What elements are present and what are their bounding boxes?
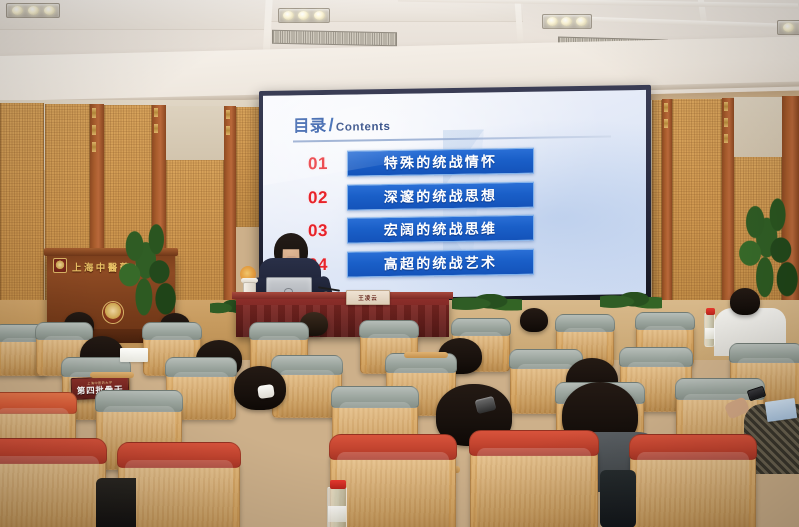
contents-item-label: 特殊的统战情怀	[384, 151, 497, 173]
auditorium-seat[interactable]	[118, 454, 240, 527]
auditorium-seat[interactable]	[630, 446, 756, 527]
wall-trim	[92, 142, 96, 152]
seat-headrest	[117, 442, 241, 468]
light-bulb	[783, 23, 794, 32]
light-bulb	[298, 11, 309, 20]
seat-headrest	[271, 355, 343, 375]
light-bulb	[547, 17, 558, 26]
air-vent	[272, 30, 397, 47]
ceiling-spotlight	[6, 3, 60, 18]
contents-item-number: 02	[293, 187, 343, 208]
face-mask	[257, 384, 275, 399]
slide-title-separator: /	[329, 115, 334, 136]
wall-trim	[92, 108, 96, 118]
wall-inset	[734, 97, 782, 159]
contents-item: 01 特殊的统战情怀	[293, 146, 622, 178]
wall-trim	[92, 125, 96, 135]
light-bulb	[28, 6, 39, 15]
potted-plant	[116, 222, 178, 318]
contents-item: 02 深邃的统战思想	[293, 179, 622, 211]
wall-trim	[664, 119, 668, 128]
wall-inset	[166, 106, 224, 162]
seat-headrest	[331, 386, 419, 408]
seat-headrest	[35, 322, 93, 340]
bottle-cap	[330, 480, 346, 489]
audience-head	[520, 308, 548, 332]
light-bulb	[314, 11, 325, 20]
nameplate-text: 王凌云	[358, 294, 378, 302]
ceiling-spotlight	[278, 8, 330, 23]
seat-headrest	[451, 318, 511, 336]
contents-item-bar: 高超的统战艺术	[347, 248, 534, 277]
contents-item-label: 深邃的统战思想	[384, 185, 497, 207]
light-bulb	[283, 11, 294, 20]
contents-item: 04 高超的统战艺术	[293, 246, 622, 278]
seat-headrest	[0, 392, 77, 414]
slide-contents-list: 01 特殊的统战情怀 02 深邃的统战思想 03	[293, 146, 622, 279]
seat-headrest	[555, 314, 615, 332]
paper-document	[120, 348, 148, 362]
seat-headrest	[635, 312, 695, 330]
paper-document	[765, 398, 797, 422]
seat-shading	[637, 452, 749, 527]
seat-headrest	[165, 357, 237, 377]
contents-item-bar: 宏阔的统战思维	[347, 215, 534, 244]
slide-title: 目录 / Contents	[293, 107, 622, 136]
bottle-label	[328, 506, 346, 522]
slide-title-cn: 目录	[293, 112, 327, 137]
seat-armrest	[404, 352, 448, 358]
contents-item-bar: 特殊的统战情怀	[347, 148, 534, 177]
wall-trim	[724, 102, 728, 111]
seat-shading	[1, 338, 41, 375]
ceiling-spotlight	[777, 20, 799, 35]
wall-trim	[226, 126, 230, 135]
wall-trim	[226, 110, 230, 119]
slide-title-en: Contents	[336, 121, 391, 134]
auditorium-seat[interactable]	[330, 446, 456, 527]
slide-title-rule	[293, 135, 611, 141]
light-bulb	[12, 6, 23, 15]
audience-body	[600, 470, 636, 527]
seat-headrest	[0, 438, 107, 464]
wall-wood-panel	[652, 100, 662, 315]
nameplate: 王凌云	[346, 290, 390, 305]
contents-item-label: 高超的统战艺术	[384, 252, 497, 274]
table-top	[232, 292, 453, 299]
seat-shading	[477, 448, 591, 527]
ceiling-spotlight	[542, 14, 592, 29]
wall-trim	[154, 124, 158, 133]
auditorium-seat[interactable]	[470, 442, 598, 527]
seat-headrest	[359, 320, 419, 338]
seat-shading	[337, 452, 449, 527]
light-bulb	[576, 17, 587, 26]
seat-headrest	[729, 343, 799, 363]
seat-headrest	[142, 322, 202, 340]
audience-body	[96, 478, 136, 527]
bottle-label	[705, 328, 714, 339]
seat-shading	[0, 456, 99, 527]
bottle-cap	[706, 308, 715, 315]
potted-plant	[736, 196, 799, 300]
wall-pillar	[722, 98, 734, 316]
wall-trim	[664, 103, 668, 112]
wall-wood-panel	[672, 99, 722, 317]
auditorium-seat[interactable]	[0, 450, 106, 527]
contents-item: 03 宏阔的统战思维	[293, 213, 622, 245]
audience-head	[730, 288, 760, 315]
seat-headrest	[629, 434, 757, 460]
wall-trim	[724, 134, 728, 143]
seat-shading	[279, 370, 335, 417]
seat-armrest	[90, 372, 134, 378]
water-bottle	[327, 487, 347, 527]
wall-pillar	[662, 99, 672, 315]
lecture-hall-photo: 目录 / Contents 01 特殊的统战情怀 02	[0, 0, 799, 527]
light-bulb	[44, 6, 55, 15]
seat-headrest	[619, 347, 693, 367]
seat-headrest	[95, 390, 183, 412]
wall-trim	[724, 118, 728, 127]
seat-headrest	[469, 430, 599, 456]
water-bottle	[704, 313, 715, 347]
university-emblem-icon	[53, 258, 67, 273]
contents-item-bar: 深邃的统战思想	[347, 181, 534, 210]
seat-shading	[125, 460, 233, 527]
light-bulb	[561, 17, 572, 26]
contents-item-label: 宏阔的统战思维	[384, 218, 497, 240]
seat-headrest	[329, 434, 457, 460]
contents-item-number: 01	[293, 154, 343, 175]
seat-headrest	[249, 322, 309, 340]
decorative-plant	[452, 294, 522, 318]
wall-trim	[154, 108, 158, 117]
